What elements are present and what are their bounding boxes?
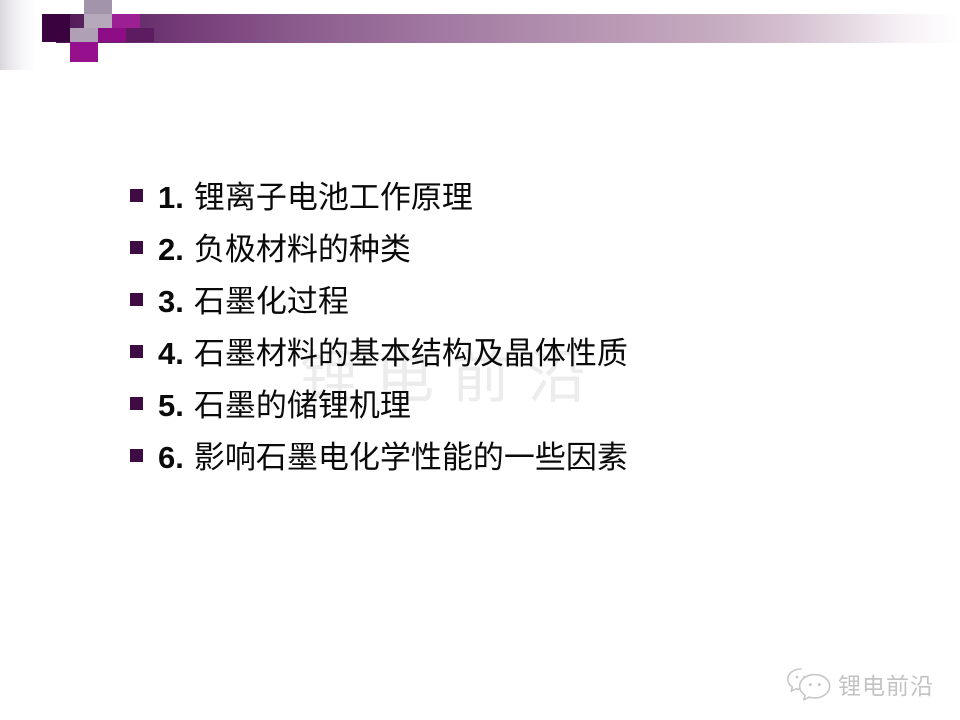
tile-dark-square xyxy=(42,14,70,42)
tile-grey-mid xyxy=(84,14,112,28)
list-item[interactable]: 3. 石墨化过程 xyxy=(130,276,870,328)
tile-grey-lower xyxy=(70,28,98,42)
list-item-label: 锂离子电池工作原理 xyxy=(194,172,473,217)
left-edge-fade xyxy=(0,0,36,70)
list-item-number: 2. xyxy=(158,232,184,268)
square-bullet-icon xyxy=(130,345,143,358)
footer-brand-label: 锂电前沿 xyxy=(838,667,934,701)
list-item-number: 6. xyxy=(158,440,184,476)
tile-purple-lower xyxy=(98,28,126,42)
list-item-label: 影响石墨电化学性能的一些因素 xyxy=(194,432,628,477)
tile-grey-top xyxy=(84,0,112,14)
square-bullet-icon xyxy=(130,449,143,462)
list-item-label: 石墨材料的基本结构及晶体性质 xyxy=(194,328,628,373)
list-item[interactable]: 1. 锂离子电池工作原理 xyxy=(130,172,870,224)
square-bullet-icon xyxy=(130,293,143,306)
square-bullet-icon xyxy=(130,397,143,410)
list-item-number: 3. xyxy=(158,284,184,320)
list-item-label: 负极材料的种类 xyxy=(194,224,411,269)
list-item[interactable]: 2. 负极材料的种类 xyxy=(130,224,870,276)
list-item[interactable]: 6. 影响石墨电化学性能的一些因素 xyxy=(130,432,870,484)
tile-magenta-upper xyxy=(112,14,140,28)
list-item-number: 4. xyxy=(158,336,184,372)
agenda-list: 1. 锂离子电池工作原理 2. 负极材料的种类 3. 石墨化过程 4. 石墨材料… xyxy=(130,172,870,484)
list-item-label: 石墨的储锂机理 xyxy=(194,380,411,425)
list-item[interactable]: 4. 石墨材料的基本结构及晶体性质 xyxy=(130,328,870,380)
slide-canvas: 锂电前沿 1. 锂离子电池工作原理 2. 负极材料的种类 3. 石墨化过程 4.… xyxy=(0,0,960,720)
list-item[interactable]: 5. 石墨的储锂机理 xyxy=(130,380,870,432)
square-bullet-icon xyxy=(130,241,143,254)
list-item-number: 5. xyxy=(158,388,184,424)
tile-plum-lower xyxy=(126,28,154,42)
list-item-number: 1. xyxy=(158,180,184,216)
wechat-icon xyxy=(786,665,834,703)
footer-brand: 锂电前沿 xyxy=(786,662,954,706)
list-item-label: 石墨化过程 xyxy=(194,276,349,321)
top-decoration-band xyxy=(0,0,960,70)
tile-magenta-bottom xyxy=(70,42,98,62)
gradient-banner xyxy=(56,14,960,43)
square-bullet-icon xyxy=(130,189,143,202)
